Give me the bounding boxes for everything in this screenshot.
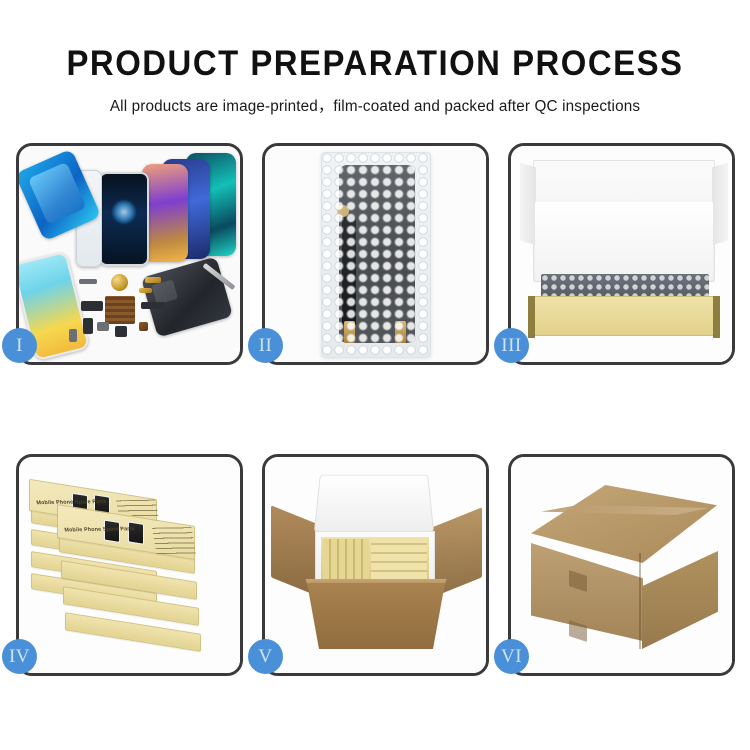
box-brand-label: Mobile Phone Spare Parts xyxy=(36,499,107,506)
step-badge-5: V xyxy=(248,639,283,674)
logic-board-icon xyxy=(105,296,135,324)
process-step-panel-5: V xyxy=(262,454,489,676)
process-step-panel-6: VI xyxy=(508,454,735,676)
carton-front-icon xyxy=(301,583,451,649)
page-title: PRODUCT PREPARATION PROCESS xyxy=(23,46,728,81)
step-badge-2: II xyxy=(248,328,283,363)
step-badge-1: I xyxy=(2,328,37,363)
carton-right-face-icon xyxy=(642,551,718,649)
vibration-motor-icon xyxy=(111,274,128,291)
carton-top-face-icon xyxy=(531,485,717,563)
earpiece-icon xyxy=(115,326,127,337)
process-step-panel-1: I xyxy=(16,143,243,365)
process-step-panel-3: III xyxy=(508,143,735,365)
flex-connector-icon xyxy=(145,277,161,283)
box-brand-label: Mobile Phone Spare Parts xyxy=(64,526,135,533)
phone-parts-illustration xyxy=(19,146,240,362)
small-button-icon xyxy=(69,329,77,342)
phone-front-display-icon xyxy=(99,172,149,266)
cable-bracket-icon xyxy=(81,301,103,311)
carton-edge-seam xyxy=(639,553,641,649)
open-box-illustration xyxy=(511,146,732,362)
box-stack: Mobile Phone Spare Parts Mobile Phone Sp… xyxy=(27,471,233,665)
box-window-icon xyxy=(128,521,144,545)
box-spec-lines xyxy=(152,527,196,554)
stacked-boxes-illustration: Mobile Phone Spare Parts Mobile Phone Sp… xyxy=(19,457,240,673)
speaker-part-icon xyxy=(79,279,97,284)
product-preparation-infographic: PRODUCT PREPARATION PROCESS All products… xyxy=(0,0,750,750)
connector-left-icon xyxy=(344,321,355,343)
connector-right-icon xyxy=(395,321,406,343)
packed-yellow-boxes-icon xyxy=(321,537,429,581)
sealed-carton-illustration xyxy=(511,457,732,673)
carton-packing-illustration xyxy=(265,457,486,673)
step-badge-4: IV xyxy=(2,639,37,674)
bubble-wrap-bag xyxy=(321,152,431,358)
process-step-panel-2: II xyxy=(262,143,489,365)
process-step-panel-4: Mobile Phone Spare Parts Mobile Phone Sp… xyxy=(16,454,243,676)
foam-sheet-icon xyxy=(535,202,713,280)
step-badge-3: III xyxy=(494,328,529,363)
foam-lid-icon xyxy=(314,475,434,533)
sim-tray-icon xyxy=(139,322,148,331)
page-subtitle: All products are image-printed，film-coat… xyxy=(6,94,745,116)
header: PRODUCT PREPARATION PROCESS All products… xyxy=(0,0,750,116)
screw-set-icon xyxy=(97,322,109,331)
gold-contact-icon xyxy=(139,288,152,293)
phone-housing-teardown-icon xyxy=(141,256,233,337)
process-step-grid: I II III xyxy=(16,143,735,676)
yellow-box-base-icon xyxy=(529,296,719,336)
step-badge-6: VI xyxy=(494,639,529,674)
ribbon-cable-icon xyxy=(141,302,165,309)
bubble-wrap-illustration xyxy=(265,146,486,362)
flex-cable-icon xyxy=(342,215,356,327)
camera-module-icon xyxy=(83,318,93,334)
